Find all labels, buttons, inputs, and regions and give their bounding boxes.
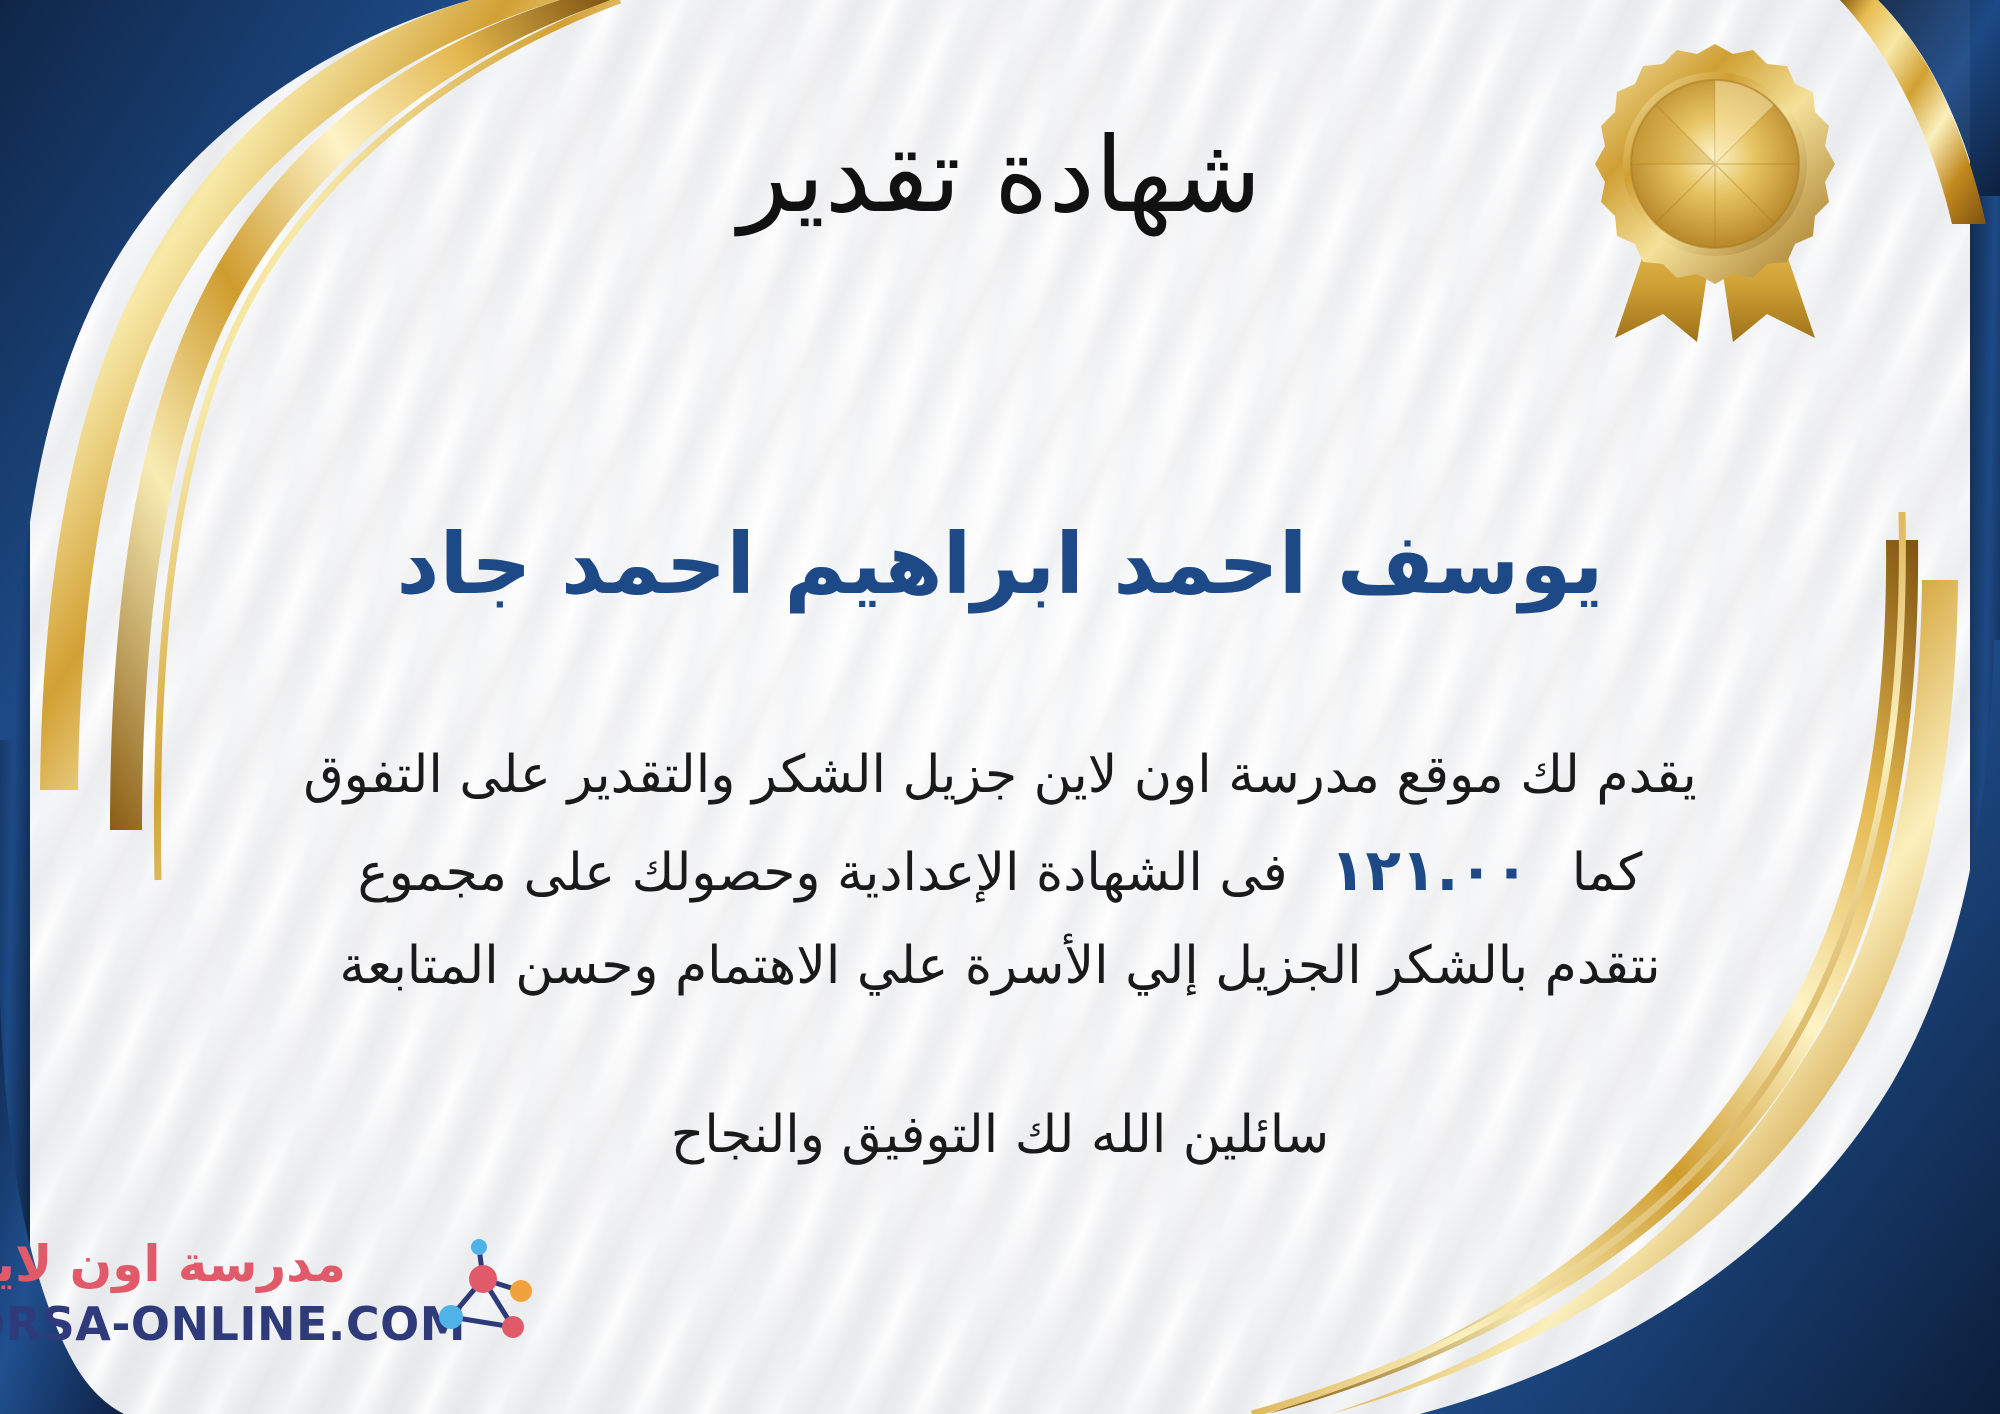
logo-arabic-text: مدرسة اون لاين	[0, 1235, 346, 1293]
body-line-2-suffix: فى الشهادة الإعدادية وحصولك على مجموع	[358, 843, 1288, 903]
student-name: يوسف احمد ابراهيم احمد جاد	[0, 516, 2000, 613]
body-line-2: كما ١٢١.٠٠ فى الشهادة الإعدادية وحصولك ع…	[55, 820, 1945, 921]
body-line-3: نتقدم بالشكر الجزيل إلي الأسرة علي الاهت…	[55, 921, 1945, 1011]
certificate-title: شهادة تقدير	[0, 118, 2000, 232]
logo-english-text: MADRSA-ONLINE.COM	[0, 1297, 466, 1351]
certificate-body: يقدم لك موقع مدرسة اون لاين جزيل الشكر و…	[55, 730, 1945, 1012]
certificate-content: شهادة تقدير يوسف احمد ابراهيم احمد جاد ي…	[0, 0, 2000, 1414]
body-line-2-prefix: كما	[1572, 843, 1643, 903]
site-logo[interactable]: مدرسة اون لاين MADRSA-ONLINE.COM	[36, 1235, 466, 1375]
network-nodes-icon	[421, 1239, 541, 1349]
body-line-1: يقدم لك موقع مدرسة اون لاين جزيل الشكر و…	[55, 730, 1945, 820]
certificate-page: شهادة تقدير يوسف احمد ابراهيم احمد جاد ي…	[0, 0, 2000, 1414]
grade-total-value: ١٢١.٠٠	[1304, 820, 1555, 921]
closing-line: سائلين الله لك التوفيق والنجاح	[0, 1105, 2000, 1165]
